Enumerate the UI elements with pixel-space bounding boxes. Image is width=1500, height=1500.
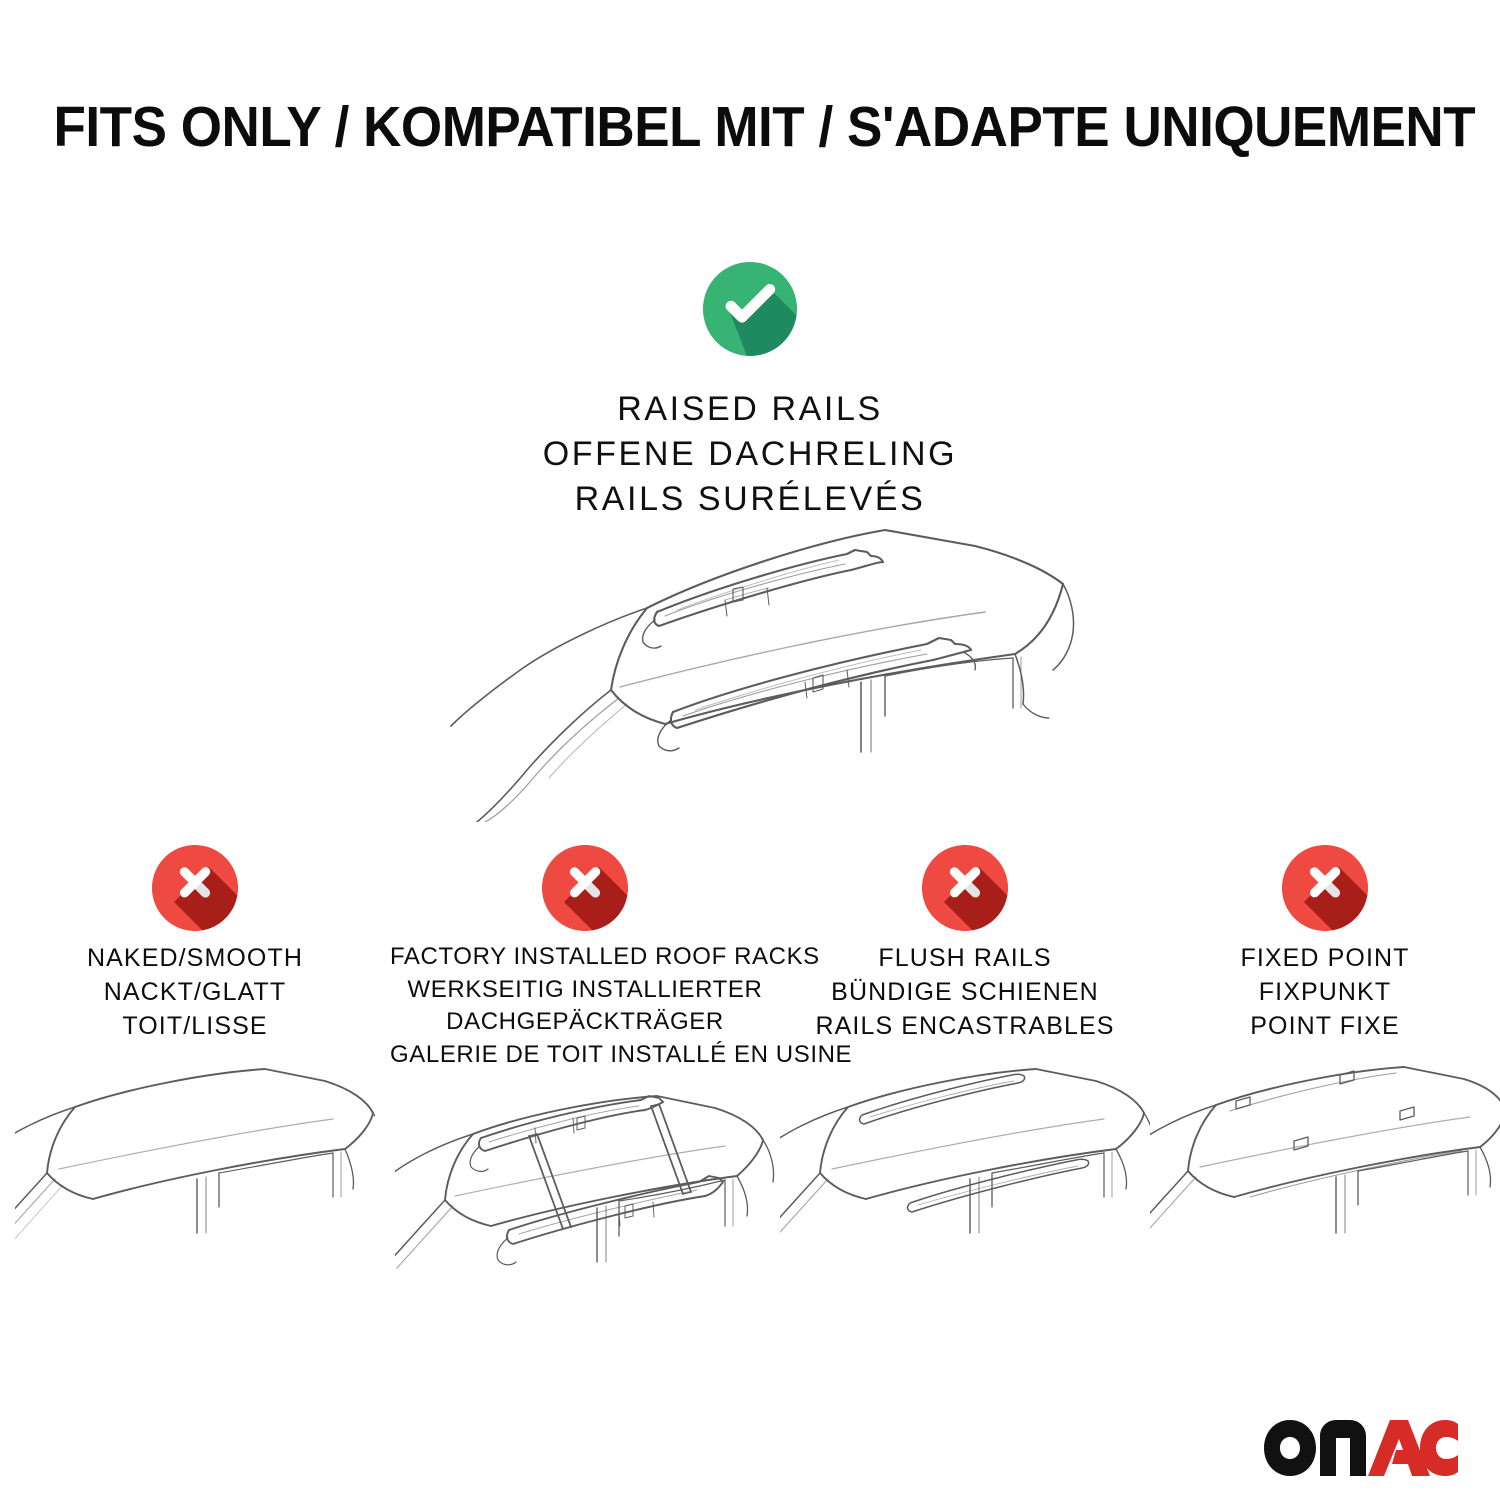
incompatible-labels-naked-smooth: NAKED/SMOOTH NACKT/GLATT TOIT/LISSE — [0, 941, 390, 1043]
page-title-text: FITS ONLY / KOMPATIBEL MIT / S'ADAPTE UN… — [54, 96, 1476, 159]
label-de: BÜNDIGE SCHIENEN — [780, 975, 1150, 1009]
omac-logo-letter-o — [1264, 1420, 1316, 1476]
incompatible-columns: NAKED/SMOOTH NACKT/GLATT TOIT/LISSE — [0, 845, 1500, 1316]
green-check-circle-icon — [703, 262, 797, 356]
label-fr: POINT FIXE — [1150, 1009, 1500, 1043]
omac-logo-letter-m — [1320, 1420, 1366, 1476]
label-fr: GALERIE DE TOIT INSTALLÉ EN USINE — [390, 1039, 780, 1072]
label-en: FIXED POINT — [1150, 941, 1500, 975]
incompatible-labels-flush-rails: FLUSH RAILS BÜNDIGE SCHIENEN RAILS ENCAS… — [780, 941, 1150, 1043]
red-x-circle-icon — [922, 845, 1008, 931]
label-de-1: WERKSEITIG INSTALLIERTER — [390, 974, 780, 1007]
car-roof-naked-smooth-illustration — [0, 1057, 390, 1287]
red-x-circle-icon — [1282, 845, 1368, 931]
omac-logo — [1262, 1418, 1458, 1478]
incompatible-item-fixed-point: FIXED POINT FIXPUNKT POINT FIXE — [1150, 845, 1500, 1287]
incompatible-labels-fixed-point: FIXED POINT FIXPUNKT POINT FIXE — [1150, 941, 1500, 1043]
car-roof-fixed-point-illustration — [1150, 1057, 1500, 1287]
page-title: FITS ONLY / KOMPATIBEL MIT / S'ADAPTE UN… — [0, 96, 1500, 159]
car-roof-factory-racks-illustration — [390, 1086, 780, 1316]
label-de-2: DACHGEPÄCKTRÄGER — [390, 1006, 780, 1039]
label-fr: TOIT/LISSE — [0, 1009, 390, 1043]
incompatible-item-naked-smooth: NAKED/SMOOTH NACKT/GLATT TOIT/LISSE — [0, 845, 390, 1287]
label-en: FACTORY INSTALLED ROOF RACKS — [390, 941, 780, 974]
label-de: NACKT/GLATT — [0, 975, 390, 1009]
red-x-circle-icon — [542, 845, 628, 931]
car-roof-raised-rails-illustration — [415, 512, 1085, 822]
compatible-labels: RAISED RAILS OFFENE DACHRELING RAILS SUR… — [0, 387, 1500, 523]
label-fr: RAILS ENCASTRABLES — [780, 1009, 1150, 1043]
car-roof-flush-rails-illustration — [780, 1057, 1150, 1287]
compatible-label-en: RAISED RAILS — [0, 387, 1500, 432]
incompatible-item-flush-rails: FLUSH RAILS BÜNDIGE SCHIENEN RAILS ENCAS… — [780, 845, 1150, 1287]
incompatible-item-factory-racks: FACTORY INSTALLED ROOF RACKS WERKSEITIG … — [390, 845, 780, 1316]
compatible-section: RAISED RAILS OFFENE DACHRELING RAILS SUR… — [0, 262, 1500, 523]
label-en: NAKED/SMOOTH — [0, 941, 390, 975]
incompatible-labels-factory-racks: FACTORY INSTALLED ROOF RACKS WERKSEITIG … — [390, 941, 780, 1072]
red-x-circle-icon — [152, 845, 238, 931]
label-de: FIXPUNKT — [1150, 975, 1500, 1009]
compatible-label-de: OFFENE DACHRELING — [0, 432, 1500, 477]
label-en: FLUSH RAILS — [780, 941, 1150, 975]
